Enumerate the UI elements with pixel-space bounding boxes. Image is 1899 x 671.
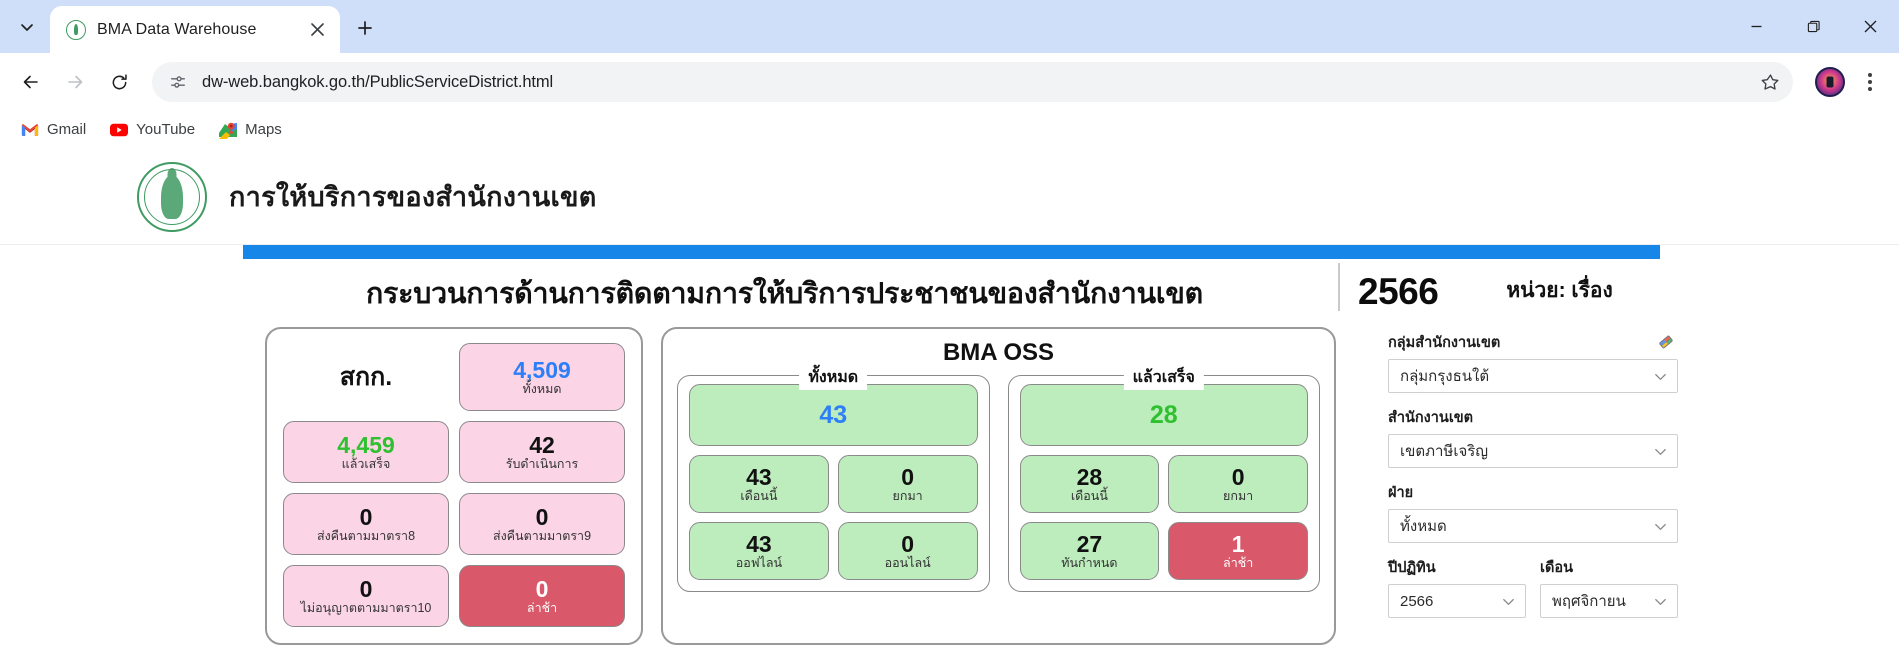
profile-avatar[interactable] [1815, 67, 1845, 97]
skk-tile-grid: สกก. 4,509 ทั้งหมด 4,459 แล้วเสร็จ 42 รั… [283, 343, 625, 627]
tile-label: ไม่อนุญาตตามมาตรา10 [301, 602, 432, 616]
tile-value: 28 [1150, 402, 1178, 428]
oss-group-all: ทั้งหมด 43 43 เดือนนี้ 0 [677, 375, 990, 592]
oss-completed-this-month[interactable]: 28 เดือนนี้ [1020, 455, 1160, 513]
address-bar-url: dw-web.bangkok.go.th/PublicServiceDistri… [202, 73, 1745, 92]
oss-completed-overdue[interactable]: 1 ล่าช้า [1168, 522, 1308, 580]
skk-tile-returned-section9[interactable]: 0 ส่งคืนตามมาตรา9 [459, 493, 625, 555]
maps-icon [219, 121, 237, 139]
month-select[interactable]: พฤศจิกายน [1540, 584, 1678, 618]
bookmark-maps[interactable]: Maps [210, 116, 291, 144]
filter-label: สำนักงานเขต [1388, 406, 1473, 429]
oss-all-row-1: 43 เดือนนี้ 0 ยกมา [689, 455, 978, 513]
dashboard: กระบวนการด้านการติดตามการให้บริการประชาช… [0, 245, 1899, 645]
chevron-down-icon [19, 19, 35, 35]
filter-row-year-month: ปีปฏิทิน 2566 เดือน [1388, 556, 1678, 618]
unit-label: หน่วย: เรื่อง [1506, 274, 1612, 307]
tile-value: 0 [901, 465, 914, 489]
star-icon[interactable] [1755, 67, 1785, 97]
plus-icon [357, 20, 373, 36]
group-legend: ทั้งหมด [799, 365, 867, 390]
filter-header: สำนักงานเขต [1388, 406, 1678, 429]
filter-header: เดือน [1540, 556, 1678, 579]
oss-group-completed: แล้วเสร็จ 28 28 เดือนนี้ 0 [1008, 375, 1321, 592]
skk-tile-denied-section10[interactable]: 0 ไม่อนุญาตตามมาตรา10 [283, 565, 449, 627]
bma-oss-groups: ทั้งหมด 43 43 เดือนนี้ 0 [677, 375, 1320, 592]
oss-all-carried-over[interactable]: 0 ยกมา [838, 455, 978, 513]
oss-completed-row-1: 28 เดือนนี้ 0 ยกมา [1020, 455, 1309, 513]
tile-label: ล่าช้า [1223, 557, 1253, 571]
skk-tile-completed[interactable]: 4,459 แล้วเสร็จ [283, 421, 449, 483]
minimize-button[interactable] [1728, 0, 1785, 53]
close-icon [1864, 20, 1877, 33]
three-dot-menu-icon[interactable] [1853, 65, 1887, 99]
tile-value: 0 [360, 577, 373, 601]
filter-group-office: กลุ่มสำนักงานเขต [1388, 331, 1678, 393]
filter-label: ปีปฏิทิน [1388, 556, 1436, 579]
new-tab-button[interactable] [348, 11, 382, 45]
chevron-down-icon [1501, 594, 1517, 609]
tile-label: ส่งคืนตามมาตรา8 [317, 530, 415, 544]
page-title: การให้บริการของสำนักงานเขต [229, 175, 597, 218]
oss-all-this-month[interactable]: 43 เดือนนี้ [689, 455, 829, 513]
bma-seal-icon [66, 20, 86, 40]
oss-all-total[interactable]: 43 [689, 384, 978, 446]
tile-label: แล้วเสร็จ [342, 458, 391, 472]
tile-value: 27 [1077, 532, 1103, 556]
tile-label: ทันกำหนด [1061, 557, 1117, 571]
select-value: เขตภาษีเจริญ [1400, 439, 1488, 463]
filter-calendar-year: ปีปฏิทิน 2566 [1388, 556, 1526, 618]
site-header: การให้บริการของสำนักงานเขต [0, 149, 1899, 245]
gmail-icon [21, 121, 39, 139]
filter-header: ฝ่าย [1388, 481, 1678, 504]
tile-value: 0 [360, 505, 373, 529]
select-value: พฤศจิกายน [1552, 589, 1626, 613]
chevron-down-icon [1653, 519, 1669, 534]
oss-all-online[interactable]: 0 ออนไลน์ [838, 522, 978, 580]
tab-title: BMA Data Warehouse [97, 21, 293, 39]
tile-label: เดือนนี้ [1071, 490, 1108, 504]
filter-panel: กลุ่มสำนักงานเขต [1388, 327, 1678, 645]
skk-panel-label: สกก. [283, 343, 449, 411]
filter-district-office: สำนักงานเขต เขตภาษีเจริญ [1388, 406, 1678, 468]
skk-tile-overdue[interactable]: 0 ล่าช้า [459, 565, 625, 627]
tab-strip: BMA Data Warehouse [0, 0, 1899, 53]
bookmark-youtube[interactable]: YouTube [101, 116, 204, 144]
address-bar[interactable]: dw-web.bangkok.go.th/PublicServiceDistri… [152, 62, 1793, 102]
back-arrow-icon [21, 72, 41, 92]
filter-label: ฝ่าย [1388, 481, 1413, 504]
department-select[interactable]: ทั้งหมด [1388, 509, 1678, 543]
tile-label: เดือนนี้ [740, 490, 777, 504]
chevron-down-icon [1653, 369, 1669, 384]
bma-oss-title: BMA OSS [677, 337, 1320, 375]
tile-value: 0 [536, 577, 549, 601]
site-settings-icon[interactable] [164, 68, 192, 96]
tile-value: 28 [1077, 465, 1103, 489]
filter-label: เดือน [1540, 556, 1573, 579]
group-legend: แล้วเสร็จ [1124, 365, 1204, 390]
tile-label: ส่งคืนตามมาตรา9 [493, 530, 591, 544]
tile-label: ยกมา [893, 490, 923, 504]
browser-window: BMA Data Warehouse [0, 0, 1899, 671]
dashboard-title: กระบวนการด้านการติดตามการให้บริการประชาช… [243, 277, 1338, 313]
skk-tile-in-progress[interactable]: 42 รับดำเนินการ [459, 421, 625, 483]
tile-value: 0 [901, 532, 914, 556]
window-controls [1728, 0, 1899, 53]
oss-all-row-2: 43 ออฟไลน์ 0 ออนไลน์ [689, 522, 978, 580]
filter-header: ปีปฏิทิน [1388, 556, 1526, 579]
maximize-icon [1807, 20, 1820, 33]
chevron-down-icon [1653, 444, 1669, 459]
oss-completed-row-2: 27 ทันกำหนด 1 ล่าช้า [1020, 522, 1309, 580]
tile-value: 1 [1232, 532, 1245, 556]
browser-toolbar: dw-web.bangkok.go.th/PublicServiceDistri… [0, 53, 1899, 111]
filter-month: เดือน พฤศจิกายน [1540, 556, 1678, 618]
filter-header: กลุ่มสำนักงานเขต [1388, 331, 1678, 354]
accent-bar [243, 245, 1660, 259]
page-content: การให้บริการของสำนักงานเขต กระบวนการด้าน… [0, 149, 1899, 671]
minimize-icon [1750, 20, 1763, 33]
forward-arrow-icon [65, 72, 85, 92]
skk-panel: สกก. 4,509 ทั้งหมด 4,459 แล้วเสร็จ 42 รั… [265, 327, 643, 645]
browser-tab[interactable]: BMA Data Warehouse [50, 6, 340, 53]
bookmark-label: Gmail [47, 121, 86, 138]
tile-label: ทั้งหมด [523, 383, 562, 397]
oss-completed-on-time[interactable]: 27 ทันกำหนด [1020, 522, 1160, 580]
bookmark-label: YouTube [136, 121, 195, 138]
tile-label: ออนไลน์ [885, 557, 931, 571]
calendar-year-select[interactable]: 2566 [1388, 584, 1526, 618]
tile-value: 43 [746, 465, 772, 489]
tile-label: ออฟไลน์ [736, 557, 782, 571]
select-value: ทั้งหมด [1400, 514, 1447, 538]
group-office-select[interactable]: กลุ่มกรุงธนใต้ [1388, 359, 1678, 393]
header-divider [1338, 263, 1340, 311]
oss-completed-carried-over[interactable]: 0 ยกมา [1168, 455, 1308, 513]
tile-value: 4,509 [513, 358, 571, 382]
bma-oss-panel: BMA OSS ทั้งหมด 43 43 เดือนนี้ [661, 327, 1336, 645]
oss-completed-total[interactable]: 28 [1020, 384, 1309, 446]
tile-value: 43 [746, 532, 772, 556]
bookmark-label: Maps [245, 121, 282, 138]
close-window-button[interactable] [1842, 0, 1899, 53]
district-office-select[interactable]: เขตภาษีเจริญ [1388, 434, 1678, 468]
oss-all-offline[interactable]: 43 ออฟไลน์ [689, 522, 829, 580]
tile-value: 43 [819, 402, 847, 428]
skk-tile-returned-section8[interactable]: 0 ส่งคืนตามมาตรา8 [283, 493, 449, 555]
youtube-icon [110, 121, 128, 139]
back-button[interactable] [10, 61, 52, 103]
bangkok-metropolitan-seal-icon [137, 162, 207, 232]
bookmark-gmail[interactable]: Gmail [12, 116, 95, 144]
close-icon[interactable] [304, 17, 330, 43]
eraser-icon[interactable] [1656, 332, 1678, 354]
bookmarks-bar: Gmail YouTube Maps [0, 111, 1899, 149]
fiscal-year-value: 2566 [1358, 271, 1438, 313]
forward-button[interactable] [54, 61, 96, 103]
maximize-button[interactable] [1785, 0, 1842, 53]
reload-button[interactable] [98, 61, 140, 103]
skk-tile-total[interactable]: 4,509 ทั้งหมด [459, 343, 625, 411]
select-value: 2566 [1400, 593, 1433, 610]
tab-search-button[interactable] [8, 8, 46, 46]
dashboard-body: สกก. 4,509 ทั้งหมด 4,459 แล้วเสร็จ 42 รั… [0, 313, 1899, 645]
chevron-down-icon [1653, 594, 1669, 609]
select-value: กลุ่มกรุงธนใต้ [1400, 364, 1489, 388]
tile-value: 0 [1232, 465, 1245, 489]
filter-label: กลุ่มสำนักงานเขต [1388, 331, 1500, 354]
tile-value: 42 [529, 433, 555, 457]
tile-value: 0 [536, 505, 549, 529]
tile-label: ยกมา [1223, 490, 1253, 504]
tile-value: 4,459 [337, 433, 395, 457]
tile-label: รับดำเนินการ [506, 458, 578, 472]
reload-icon [110, 73, 129, 92]
filter-department: ฝ่าย ทั้งหมด [1388, 481, 1678, 543]
tile-label: ล่าช้า [527, 602, 557, 616]
